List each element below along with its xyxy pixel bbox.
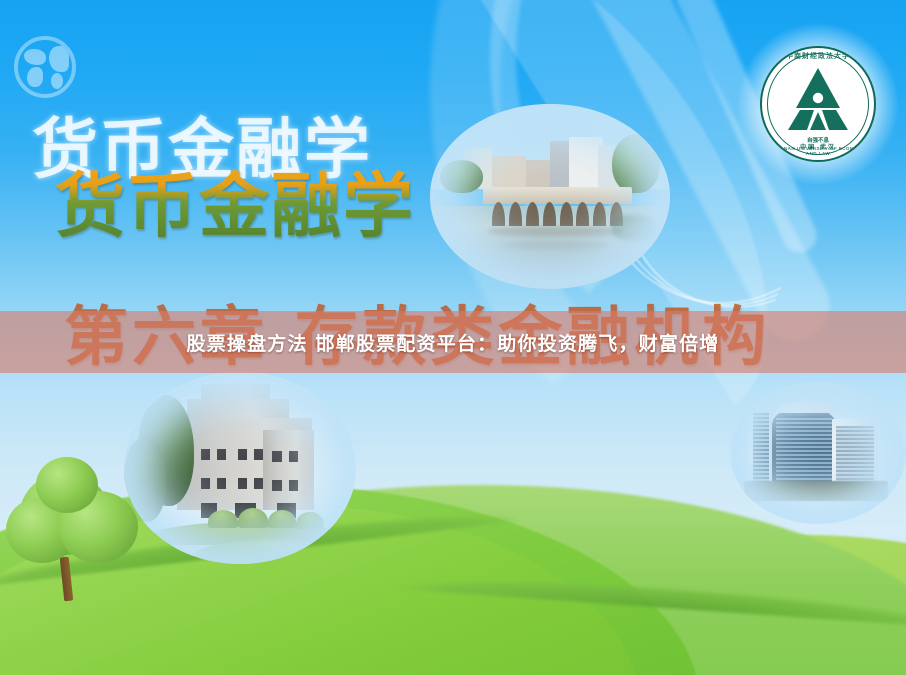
building-window (201, 478, 210, 490)
emblem-pyramid-mark (780, 68, 856, 132)
building-mass-wing (263, 430, 314, 511)
building-window (217, 449, 226, 461)
building-window (289, 480, 298, 492)
bridge-arch (560, 202, 573, 226)
tree-canopy-4 (36, 457, 98, 513)
bridge-building-3 (526, 160, 550, 190)
building-shrub (208, 510, 238, 527)
bridge-building-2 (492, 156, 526, 189)
modern-right-glass (836, 426, 875, 483)
headline-text: 股票操盘方法 邯郸股票配资平台：助你投资腾飞，财富倍增 (186, 329, 719, 356)
bridge-tree-left (440, 160, 483, 193)
bridge-reflection-2 (502, 241, 608, 250)
building-photo (124, 372, 356, 564)
globe-icon (14, 36, 76, 98)
headline-banner: 股票操盘方法 邯郸股票配资平台：助你投资腾飞，财富倍增 (0, 311, 906, 373)
tree-trunk (60, 557, 74, 602)
building-window (238, 449, 247, 461)
globe-landmass-4 (51, 73, 63, 89)
modern-left-glass (753, 413, 769, 487)
modern-building-scene (730, 382, 906, 524)
building-shrub (238, 508, 268, 527)
emblem-location: 中国 武汉 (762, 142, 874, 151)
modern-center-glass (776, 416, 832, 484)
building-window (254, 449, 263, 461)
bridge-tree-right (612, 134, 660, 193)
globe-landmass-2 (27, 67, 43, 87)
university-emblem: 中南财经政法大学 自强不息 中国 武汉 ZHONGNAN UNIVERSITY … (760, 46, 876, 162)
promo-image-canvas: 货币金融学 货币金融学 第六章 存款类金融机构 (0, 0, 906, 675)
building-tree-2 (124, 437, 166, 521)
bridge-deck (483, 187, 632, 204)
building-window (272, 480, 281, 492)
bridge-reflection-1 (488, 226, 622, 237)
bridge-photo (430, 104, 670, 289)
building-photo-scene (124, 372, 356, 564)
modern-building-photo (730, 382, 906, 524)
building-window (254, 478, 263, 490)
globe-landmass-1 (24, 49, 46, 65)
bridge-reflection-3 (612, 215, 655, 241)
building-window (272, 451, 281, 463)
bridge-photo-scene (430, 104, 670, 289)
building-shrub (268, 510, 296, 527)
building-window (217, 478, 226, 490)
building-shrub (296, 512, 324, 529)
building-window (289, 451, 298, 463)
building-window (238, 478, 247, 490)
building-window (201, 449, 210, 461)
globe-landmass-3 (49, 46, 69, 72)
modern-center-crown (776, 402, 836, 413)
modern-foreground-greenery (744, 481, 888, 501)
